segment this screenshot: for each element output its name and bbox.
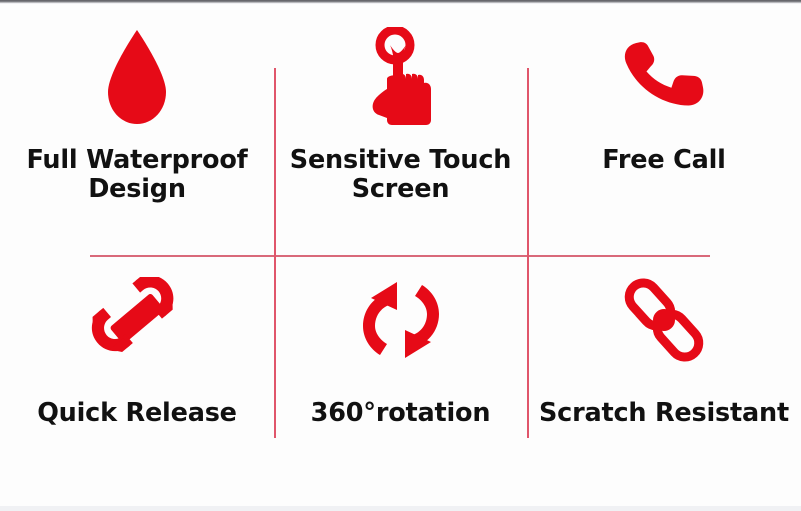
rotation-arrows-icon (274, 255, 527, 385)
features-grid: Full Waterproof Design (0, 18, 801, 493)
feature-cell-rotation: 360°rotation (274, 255, 527, 493)
feature-label-quick-release: Quick Release (37, 399, 237, 428)
feature-label-touch-screen: Sensitive Touch Screen (290, 146, 511, 203)
water-drop-icon (0, 18, 274, 136)
feature-label-line1: Sensitive Touch (290, 146, 511, 175)
phone-handset-icon (527, 18, 801, 136)
top-edge-band (0, 0, 801, 4)
bottom-edge-band (0, 506, 801, 511)
feature-label-free-call: Free Call (602, 146, 725, 175)
feature-label-line1: Free Call (602, 146, 725, 175)
wrench-icon (0, 255, 274, 385)
feature-label-line2: Screen (290, 175, 511, 204)
feature-cell-scratch-resistant: Scratch Resistant (527, 255, 801, 493)
feature-cell-waterproof: Full Waterproof Design (0, 18, 274, 255)
feature-label-scratch-resistant: Scratch Resistant (539, 399, 789, 428)
chain-link-icon (527, 255, 801, 385)
feature-label-line1: 360°rotation (311, 399, 491, 428)
feature-cell-free-call: Free Call (527, 18, 801, 255)
feature-label-line1: Scratch Resistant (539, 399, 789, 428)
feature-cell-quick-release: Quick Release (0, 255, 274, 493)
feature-label-line1: Full Waterproof (26, 146, 247, 175)
feature-label-line2: Design (26, 175, 247, 204)
feature-label-rotation: 360°rotation (311, 399, 491, 428)
feature-label-line1: Quick Release (37, 399, 237, 428)
touch-pointer-hand-icon (274, 18, 527, 136)
feature-grid-page: Full Waterproof Design (0, 0, 801, 511)
feature-cell-touch-screen: Sensitive Touch Screen (274, 18, 527, 255)
feature-label-waterproof: Full Waterproof Design (26, 146, 247, 203)
